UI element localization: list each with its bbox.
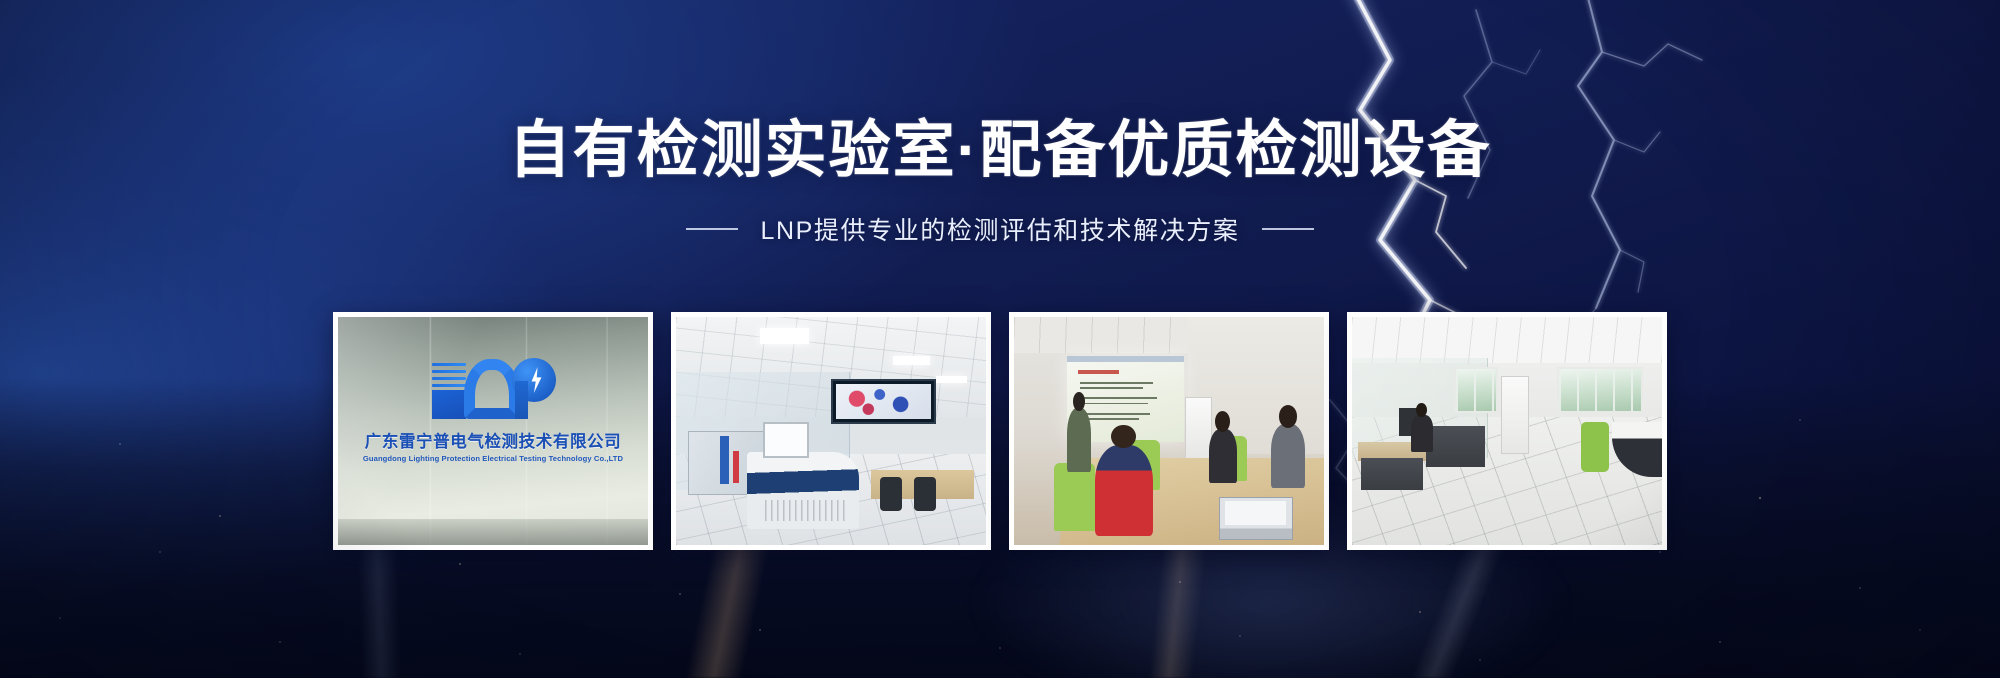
window [1454, 367, 1497, 413]
hero-subtitle-row: LNP提供专业的检测评估和技术解决方案 [0, 211, 2000, 247]
presenter [1067, 408, 1092, 472]
office-desk [1361, 458, 1423, 490]
photo-meeting-room [1014, 317, 1324, 545]
photo-office [1352, 317, 1662, 545]
laptop [1219, 497, 1293, 540]
office-cabinet [1501, 376, 1529, 454]
console-monitor [763, 422, 810, 458]
hero-text-block: 自有检测实验室·配备优质检测设备 LNP提供专业的检测评估和技术解决方案 [0, 118, 2000, 247]
lab-chair [914, 477, 936, 511]
attendee [1271, 424, 1305, 488]
office-desk [1426, 426, 1485, 467]
lab-chair [880, 477, 902, 511]
photo-laboratory [676, 317, 986, 545]
company-name-cn: 广东雷宁普电气检测技术有限公司 [365, 428, 622, 452]
photo-gallery-strip: 广东雷宁普电气检测技术有限公司 Guangdong Lighting Prote… [333, 312, 1667, 550]
wall-monitor [831, 379, 936, 425]
lab-control-console [747, 452, 859, 530]
window [1557, 367, 1644, 413]
office-worker [1411, 415, 1433, 451]
gallery-item-meeting-room[interactable] [1009, 312, 1329, 550]
green-chair [1054, 463, 1094, 531]
company-name-en: Guangdong Lighting Protection Electrical… [363, 454, 623, 463]
rule-left-icon [686, 228, 738, 230]
ceiling-light [760, 328, 810, 344]
hero-subtitle: LNP提供专业的检测评估和技术解决方案 [760, 211, 1239, 247]
lnp-logo-block: 广东雷宁普电气检测技术有限公司 Guangdong Lighting Prote… [338, 357, 648, 463]
rule-right-icon [1262, 228, 1314, 230]
green-chair [1581, 422, 1609, 472]
page-title: 自有检测实验室·配备优质检测设备 [0, 118, 2000, 185]
office-ceiling [1352, 317, 1662, 363]
ceiling-light [936, 376, 967, 383]
lnp-logo-icon [428, 357, 558, 419]
photo-logo-wall: 广东雷宁普电气检测技术有限公司 Guangdong Lighting Prote… [338, 317, 648, 545]
hero-banner: 自有检测实验室·配备优质检测设备 LNP提供专业的检测评估和技术解决方案 [0, 0, 2000, 678]
gallery-item-laboratory[interactable] [671, 312, 991, 550]
gallery-item-logo-wall[interactable]: 广东雷宁普电气检测技术有限公司 Guangdong Lighting Prote… [333, 312, 653, 550]
ceiling-light [893, 356, 930, 365]
attendee [1095, 445, 1154, 536]
air-conditioner [1185, 397, 1213, 465]
gallery-item-office[interactable] [1347, 312, 1667, 550]
attendee [1209, 429, 1237, 484]
logo-wall-base [338, 519, 648, 545]
